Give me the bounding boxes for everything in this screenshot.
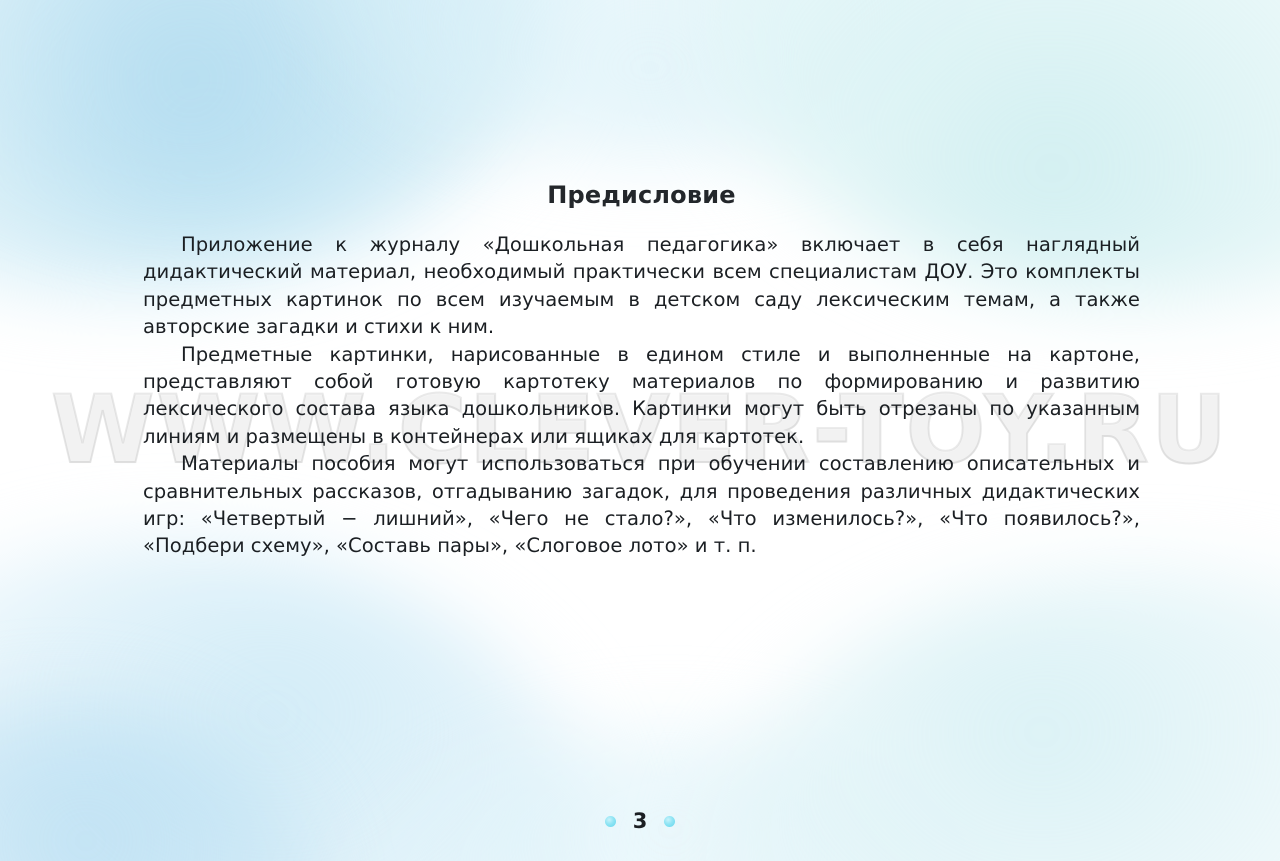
paragraph: Предметные картинки, нарисованные в един… (143, 341, 1140, 451)
background-wash-bottom-left-2 (0, 701, 320, 861)
paragraph: Приложение к журналу «Дошкольная педагог… (143, 231, 1140, 341)
body-copy: Приложение к журналу «Дошкольная педагог… (143, 231, 1140, 560)
footer-dot-left-icon (605, 816, 616, 827)
background-wash-top-center (300, 0, 1000, 160)
page-title: Предисловие (143, 181, 1140, 209)
page-footer: 3 (0, 811, 1280, 832)
page-number: 3 (633, 811, 648, 832)
footer-dot-right-icon (664, 816, 675, 827)
background-wash-bottom-center (330, 731, 1010, 861)
paragraph: Материалы пособия могут использоваться п… (143, 450, 1140, 560)
